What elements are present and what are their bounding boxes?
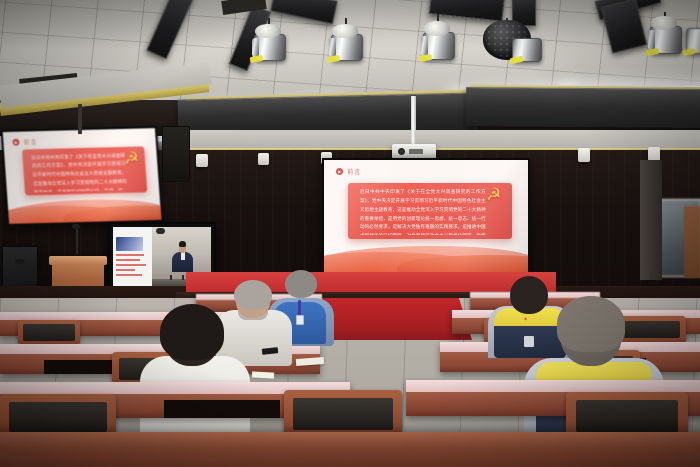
tv-speaker-shirt [181,252,185,259]
lamp-glass [332,24,358,38]
ceiling-speaker [196,154,208,167]
led-wave-graphic [8,198,162,224]
play-circle-icon: ▶ [12,138,19,145]
tv-speaker-hair [179,241,187,247]
led-mount-arm [78,104,82,134]
attendee-hair [557,296,625,352]
tv-microphone [170,275,172,279]
wall-led-display: ▶ 前言 近日中共中央印发了《关于在全党大兴调查研究的工作方案》，党中央决定开展… [1,126,164,226]
lanyard [298,300,301,316]
tv-side-slide [113,227,152,289]
slide-header: ▶ 前言 [336,167,361,176]
paper-stack [252,371,274,378]
ceiling-speaker [648,147,660,161]
tv-microphone [182,275,184,279]
chair [18,320,80,344]
spot-light [254,34,286,61]
spot-light [331,34,363,61]
led-slide-title: 前言 [23,137,38,146]
lectern-top [49,256,107,265]
lamp-glass [424,21,450,36]
podium-mic-head [72,224,80,229]
chair-front [284,390,402,436]
auditorium-photo: ▶ 前言 近日中共中央印发了《关于在全党大兴调查研究的工作方案》，党中央决定开展… [0,0,700,467]
hammer-sickle-emblem: ☭ [121,150,141,162]
play-circle-icon: ▶ [336,168,343,175]
slide-body-text: 近日中共中央印发了《关于在全党大兴调查研究的工作方案》，党中央决定开展学习贯彻习… [360,188,486,235]
podium-mic-stand [76,228,78,254]
slide-title: 前言 [347,167,361,176]
attendee-hair [160,304,224,360]
ceiling-projector [392,144,436,159]
led-text-panel: 近日中共中央印发了《关于在全党大兴调查研究的工作方案》，党中央决定开展学习贯彻习… [22,147,147,196]
lamp-glass [651,16,677,30]
acoustic-beam [466,87,700,128]
lamp-glass [255,24,281,38]
led-slide-surface: ▶ 前言 近日中共中央印发了《关于在全党大兴调查研究的工作方案》，党中央决定开展… [3,128,162,224]
side-door [684,206,700,278]
cup [524,336,534,347]
main-projection-screen: ▶ 前言 近日中共中央印发了《关于在全党大兴调查研究的工作方案》，党中央决定开展… [322,158,530,275]
tv-slide-image [116,237,143,251]
wall-pillar [640,160,662,280]
slide-wave-graphic [324,246,528,273]
tv-slide-text-lines [116,254,149,279]
led-slide-header: ▶ 前言 [12,137,38,147]
wall-monitor-right [162,126,190,182]
spot-light [650,26,682,54]
slide-text-panel: 近日中共中央印发了《关于在全党大兴调查研究的工作方案》，党中央决定开展学习贯彻习… [348,183,511,240]
ceiling-speaker [258,153,269,165]
spot-light [512,38,542,62]
slide-surface: ▶ 前言 近日中共中央印发了《关于在全党大兴调查研究的工作方案》，党中央决定开展… [324,160,528,273]
projector-pole [411,96,416,146]
desk-row-nearest [0,432,700,467]
spot-light [423,32,455,60]
ceiling-speaker [578,148,590,162]
hammer-sickle-emblem: ☭ [481,186,507,201]
tv-camera-icon [156,228,165,234]
soffit [180,130,700,150]
led-body-text: 近日中共中央印发了《关于在全党大兴调查研究的工作方案》，党中央决定开展学习贯彻习… [31,151,127,192]
id-badge [296,315,304,325]
spot-light [686,28,700,54]
